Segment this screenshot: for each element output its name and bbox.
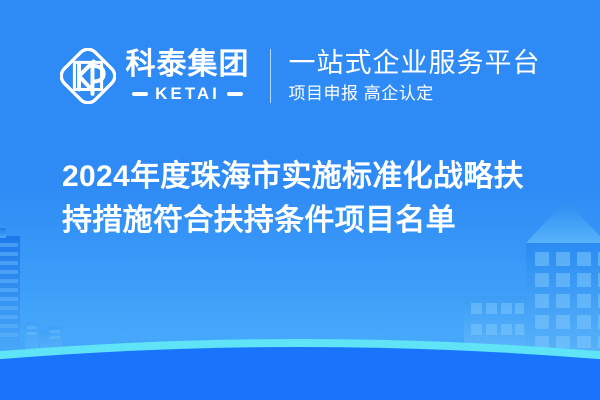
page-title-line-1: 2024年度珠海市实施标准化战略扶 [62, 155, 554, 199]
ketai-kp-monogram-logo-icon [60, 48, 116, 104]
brand-name-en-row: KETAI [126, 85, 250, 102]
tagline-secondary: 项目申报 高企认定 [289, 84, 541, 104]
brand-name-cn: 科泰集团 [126, 50, 250, 80]
brand-name-en: KETAI [155, 85, 220, 102]
page-title-line-2: 持措施符合扶持条件项目名单 [62, 199, 554, 243]
tagline-primary: 一站式企业服务平台 [289, 48, 541, 78]
brand-rule-right [227, 92, 243, 96]
page-title: 2024年度珠海市实施标准化战略扶 持措施符合扶持条件项目名单 [62, 155, 554, 243]
header-divider [270, 49, 271, 103]
banner-header: 科泰集团 KETAI 一站式企业服务平台 项目申报 高企认定 [0, 34, 600, 118]
brand-rule-left [132, 92, 148, 96]
brand-lockup: 科泰集团 KETAI [60, 48, 250, 104]
brand-text-block: 科泰集团 KETAI [126, 50, 250, 102]
tagline-block: 一站式企业服务平台 项目申报 高企认定 [289, 48, 541, 105]
banner-container: 科泰集团 KETAI 一站式企业服务平台 项目申报 高企认定 2024年度珠海市… [0, 0, 600, 400]
